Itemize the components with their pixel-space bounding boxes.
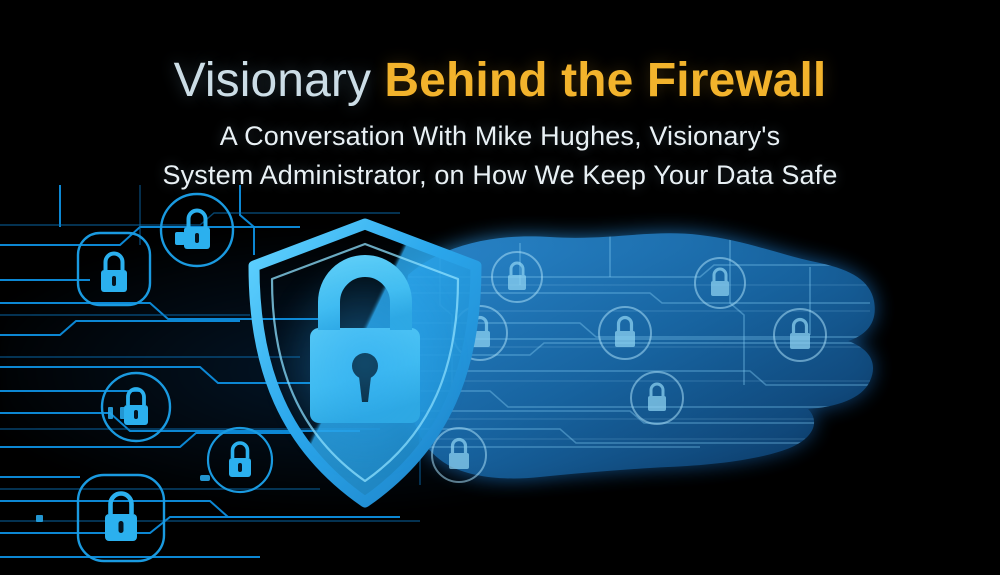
banner-image: Visionary Behind the Firewall A Conversa… (0, 0, 1000, 575)
title-gold-part: Behind the Firewall (384, 54, 826, 107)
subtitle-line-2: System Administrator, on How We Keep You… (0, 160, 1000, 191)
page-title: Visionary Behind the Firewall (0, 56, 1000, 106)
shield-glow (210, 198, 520, 528)
lock-badge-rounded-lower (78, 475, 164, 561)
lock-badge-rounded-upper (78, 233, 150, 305)
shield-graphic (240, 218, 490, 508)
subtitle-line-1: A Conversation With Mike Hughes, Visiona… (0, 121, 1000, 152)
title-light-part: Visionary (174, 54, 371, 107)
